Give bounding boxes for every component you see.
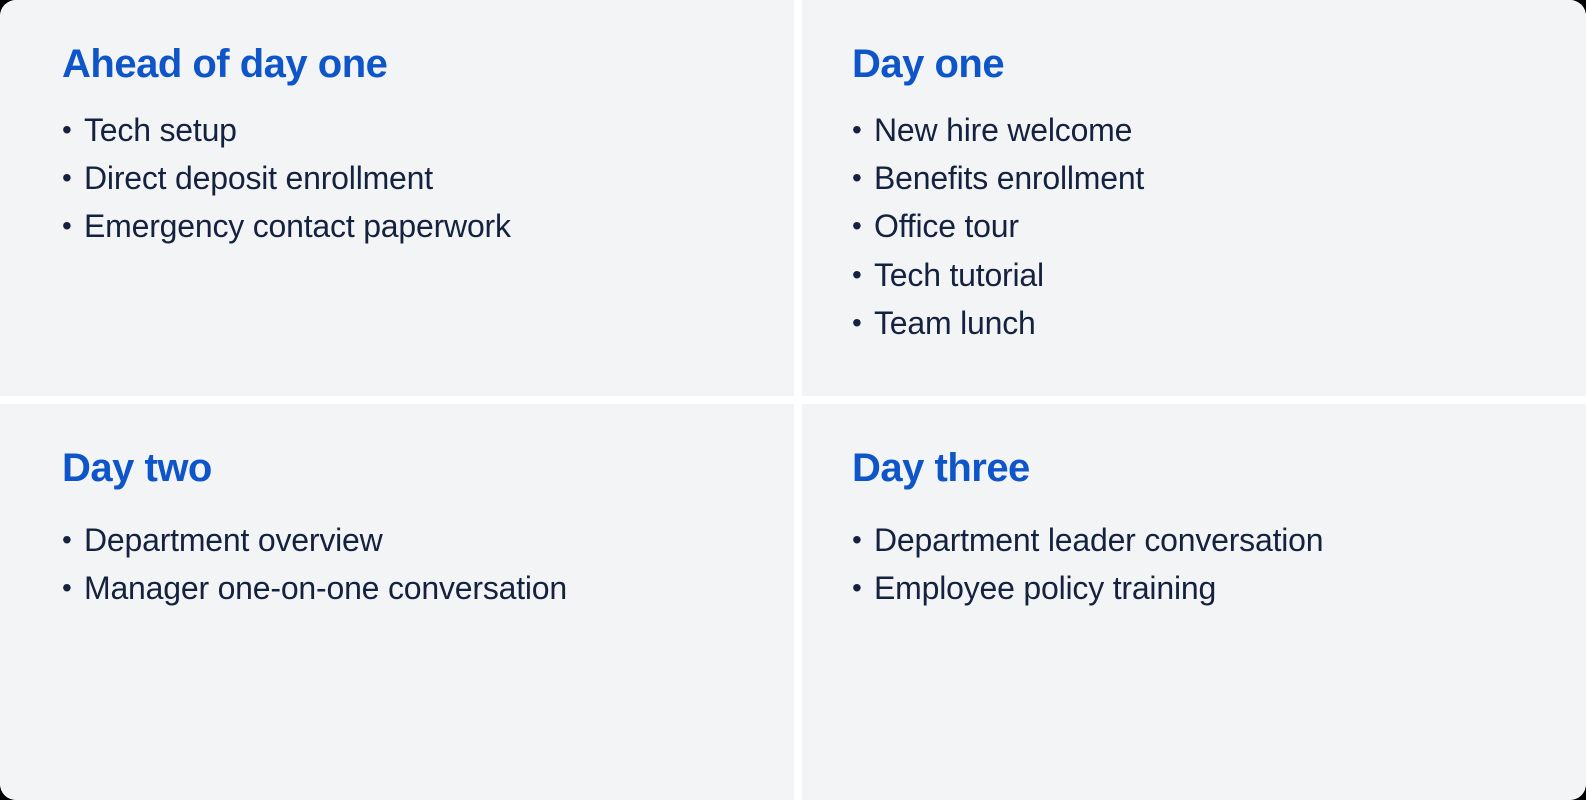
bullet-icon: •: [852, 210, 874, 242]
bullet-icon: •: [852, 524, 874, 556]
list-item-label: Manager one-on-one conversation: [84, 572, 567, 604]
bullet-icon: •: [852, 114, 874, 146]
bullet-icon: •: [62, 162, 84, 194]
list-item: • Manager one-on-one conversation: [62, 572, 754, 604]
bullet-icon: •: [62, 572, 84, 604]
card-item-list: • Tech setup • Direct deposit enrollment…: [62, 114, 754, 243]
list-item-label: Team lunch: [874, 307, 1036, 339]
card-item-list: • New hire welcome • Benefits enrollment…: [852, 114, 1546, 339]
list-item-label: Benefits enrollment: [874, 162, 1144, 194]
list-item-label: New hire welcome: [874, 114, 1132, 146]
bullet-icon: •: [852, 162, 874, 194]
list-item: • New hire welcome: [852, 114, 1546, 146]
list-item-label: Office tour: [874, 210, 1019, 242]
list-item: • Department overview: [62, 524, 754, 556]
card-day-three: Day three • Department leader conversati…: [802, 404, 1586, 800]
bullet-icon: •: [62, 524, 84, 556]
bullet-icon: •: [852, 307, 874, 339]
list-item-label: Tech tutorial: [874, 259, 1044, 291]
card-title: Ahead of day one: [62, 44, 754, 84]
list-item-label: Tech setup: [84, 114, 237, 146]
bullet-icon: •: [62, 210, 84, 242]
card-item-list: • Department leader conversation • Emplo…: [852, 524, 1546, 604]
list-item: • Department leader conversation: [852, 524, 1546, 556]
bullet-icon: •: [62, 114, 84, 146]
card-title: Day two: [62, 448, 754, 488]
list-item: • Office tour: [852, 210, 1546, 242]
list-item-label: Department overview: [84, 524, 383, 556]
list-item: • Benefits enrollment: [852, 162, 1546, 194]
card-title: Day three: [852, 448, 1546, 488]
list-item: • Team lunch: [852, 307, 1546, 339]
list-item: • Tech tutorial: [852, 259, 1546, 291]
list-item-label: Direct deposit enrollment: [84, 162, 433, 194]
list-item-label: Department leader conversation: [874, 524, 1323, 556]
list-item-label: Emergency contact paperwork: [84, 210, 511, 242]
bullet-icon: •: [852, 572, 874, 604]
list-item: • Employee policy training: [852, 572, 1546, 604]
card-ahead-of-day-one: Ahead of day one • Tech setup • Direct d…: [0, 0, 794, 396]
list-item: • Emergency contact paperwork: [62, 210, 754, 242]
list-item: • Tech setup: [62, 114, 754, 146]
card-title: Day one: [852, 44, 1546, 84]
list-item-label: Employee policy training: [874, 572, 1216, 604]
card-item-list: • Department overview • Manager one-on-o…: [62, 524, 754, 604]
bullet-icon: •: [852, 259, 874, 291]
list-item: • Direct deposit enrollment: [62, 162, 754, 194]
onboarding-timeline-grid: Ahead of day one • Tech setup • Direct d…: [0, 0, 1586, 800]
card-day-two: Day two • Department overview • Manager …: [0, 404, 794, 800]
card-day-one: Day one • New hire welcome • Benefits en…: [802, 0, 1586, 396]
